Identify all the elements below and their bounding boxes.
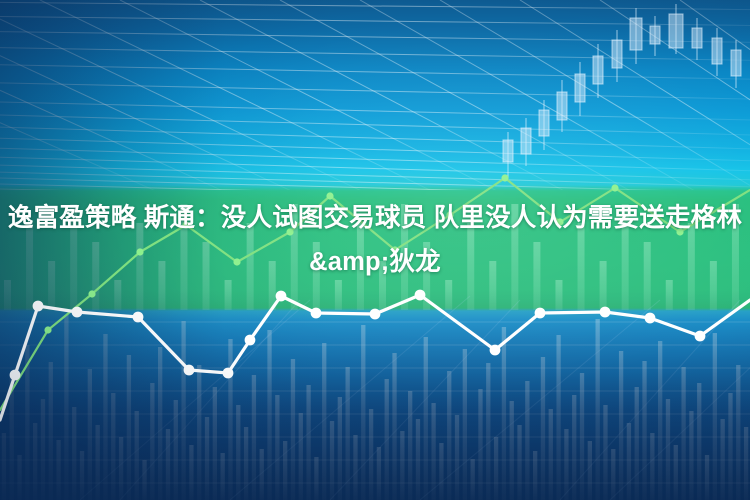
page-title: 逸富盈策略 斯通：没人试图交易球员 队里没人认为需要送走格林&amp;狄龙: [0, 196, 750, 284]
stock-market-banner: 逸富盈策略 斯通：没人试图交易球员 队里没人认为需要送走格林&amp;狄龙: [0, 0, 750, 500]
